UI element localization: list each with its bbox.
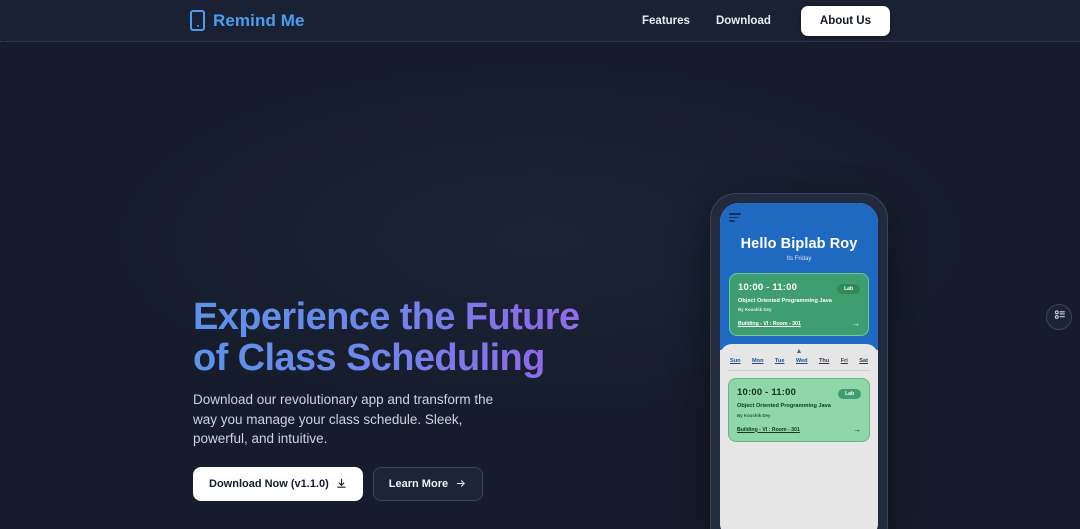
status-badge: Lab (837, 284, 860, 294)
about-us-button[interactable]: About Us (801, 6, 890, 36)
brand-logo[interactable]: Remind Me (190, 10, 305, 31)
chevron-up-icon[interactable]: ▲ (728, 348, 870, 355)
settings-panel-icon (1053, 308, 1066, 326)
class-title: Object Oriented Programming Java (738, 298, 860, 305)
app-subgreeting: Its Friday (729, 256, 869, 262)
weekday-sun[interactable]: Sun (730, 358, 741, 364)
phone-mockup: Hello Biplab Roy Its Friday 10:00 - 11:0… (710, 193, 888, 529)
weekday-fri[interactable]: Fri (841, 358, 848, 364)
class-time: 10:00 - 11:00 (737, 387, 796, 398)
class-card-footer: Building - VI : Room - 301 → (737, 426, 861, 434)
learn-more-label: Learn More (389, 478, 448, 490)
weekday-mon[interactable]: Mon (752, 358, 764, 364)
class-card-header: 10:00 - 11:00 Lab (737, 387, 861, 399)
class-card-footer: Building - VI : Room - 301 → (738, 320, 860, 328)
learn-more-button[interactable]: Learn More (373, 467, 483, 501)
weekday-tue[interactable]: Tue (775, 358, 785, 364)
main-nav: Features Download About Us (642, 6, 890, 36)
class-author: By Koushik Dey (737, 413, 861, 418)
hamburger-bar (729, 220, 735, 222)
brand-name: Remind Me (213, 11, 305, 31)
hamburger-icon[interactable] (729, 213, 741, 222)
phone-screen: Hello Biplab Roy Its Friday 10:00 - 11:0… (720, 203, 878, 529)
weekday-wed[interactable]: Wed (796, 358, 808, 364)
hero-section: Experience the Future of Class Schedulin… (193, 297, 623, 501)
class-card-arrow-icon[interactable]: → (853, 426, 861, 434)
hamburger-bar (729, 213, 741, 215)
hero-title-line-2: of Class Scheduling (193, 338, 623, 379)
weekday-sat[interactable]: Sat (859, 358, 868, 364)
status-badge: Lab (838, 389, 861, 399)
class-time: 10:00 - 11:00 (738, 282, 797, 293)
hero-subtitle: Download our revolutionary app and trans… (193, 390, 503, 449)
class-card[interactable]: 10:00 - 11:00 Lab Object Oriented Progra… (729, 273, 869, 336)
weekday-thu[interactable]: Thu (819, 358, 829, 364)
download-now-button[interactable]: Download Now (v1.1.0) (193, 467, 363, 501)
class-card-arrow-icon[interactable]: → (852, 320, 860, 328)
hero-actions: Download Now (v1.1.0) Learn More (193, 467, 623, 501)
site-header: Remind Me Features Download About Us (0, 0, 1080, 42)
page-title: Experience the Future of Class Schedulin… (193, 297, 623, 379)
nav-item-download[interactable]: Download (716, 15, 771, 27)
hero-title-line-1: Experience the Future (193, 297, 623, 338)
class-room-link[interactable]: Building - VI : Room - 301 (737, 427, 800, 433)
download-now-label: Download Now (v1.1.0) (209, 478, 329, 490)
class-card[interactable]: 10:00 - 11:00 Lab Object Oriented Progra… (728, 378, 870, 441)
hero-stage: Experience the Future of Class Schedulin… (0, 42, 1080, 529)
weekday-selector: Sun Mon Tue Wed Thu Fri Sat (728, 358, 870, 371)
class-author: By Koushik Dey (738, 307, 860, 312)
class-title: Object Oriented Programming Java (737, 403, 861, 410)
download-icon (336, 478, 347, 489)
app-header: Hello Biplab Roy Its Friday 10:00 - 11:0… (720, 203, 878, 350)
class-card-header: 10:00 - 11:00 Lab (738, 282, 860, 294)
schedule-sheet: ▲ Sun Mon Tue Wed Thu Fri Sat 10:00 - 11… (720, 344, 878, 529)
class-room-link[interactable]: Building - VI : Room - 301 (738, 321, 801, 327)
hamburger-bar (729, 217, 738, 219)
arrow-right-icon (455, 478, 467, 489)
nav-item-features[interactable]: Features (642, 15, 690, 27)
app-greeting: Hello Biplab Roy (729, 236, 869, 252)
settings-panel-button[interactable] (1046, 304, 1072, 330)
smartphone-icon (190, 10, 205, 31)
